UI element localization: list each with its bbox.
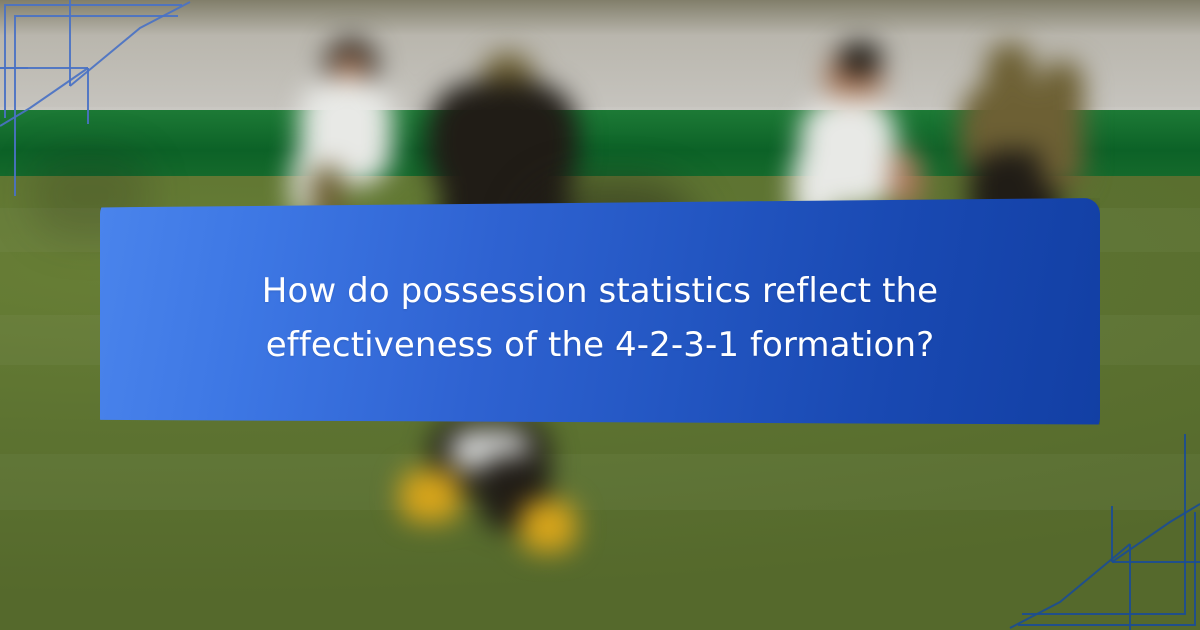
share-card: How do possession statistics reflect the… (0, 0, 1200, 630)
question-line-2: effectiveness of the 4-2-3-1 formation? (266, 320, 935, 372)
question-banner: How do possession statistics reflect the… (100, 198, 1100, 434)
question-banner-text: How do possession statistics reflect the… (100, 198, 1100, 434)
question-line-1: How do possession statistics reflect the (262, 266, 938, 318)
